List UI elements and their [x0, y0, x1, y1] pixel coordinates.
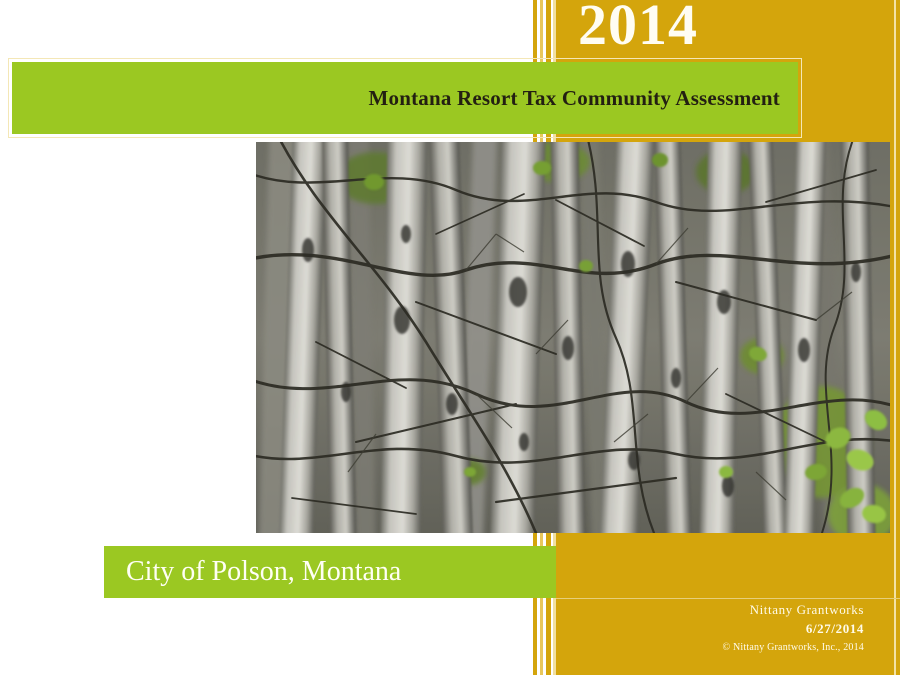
year-label: 2014: [578, 0, 698, 54]
title-banner: Montana Resort Tax Community Assessment: [12, 62, 798, 134]
gold-panel-inner-rule: [894, 0, 896, 675]
footer-block: Nittany Grantworks 6/27/2014 © Nittany G…: [564, 600, 864, 657]
aspen-birch-forest-photo: [256, 142, 890, 533]
footer-copyright: © Nittany Grantworks, Inc., 2014: [564, 639, 864, 657]
page-title: Montana Resort Tax Community Assessment: [369, 86, 781, 111]
subtitle-banner: City of Polson, Montana: [104, 546, 556, 598]
title-slide: 2014 Montana Resort Tax Community Assess…: [0, 0, 900, 675]
footer-date: 6/27/2014: [564, 619, 864, 639]
footer-divider: [556, 598, 900, 599]
page-subtitle: City of Polson, Montana: [126, 556, 401, 588]
footer-author: Nittany Grantworks: [564, 600, 864, 619]
